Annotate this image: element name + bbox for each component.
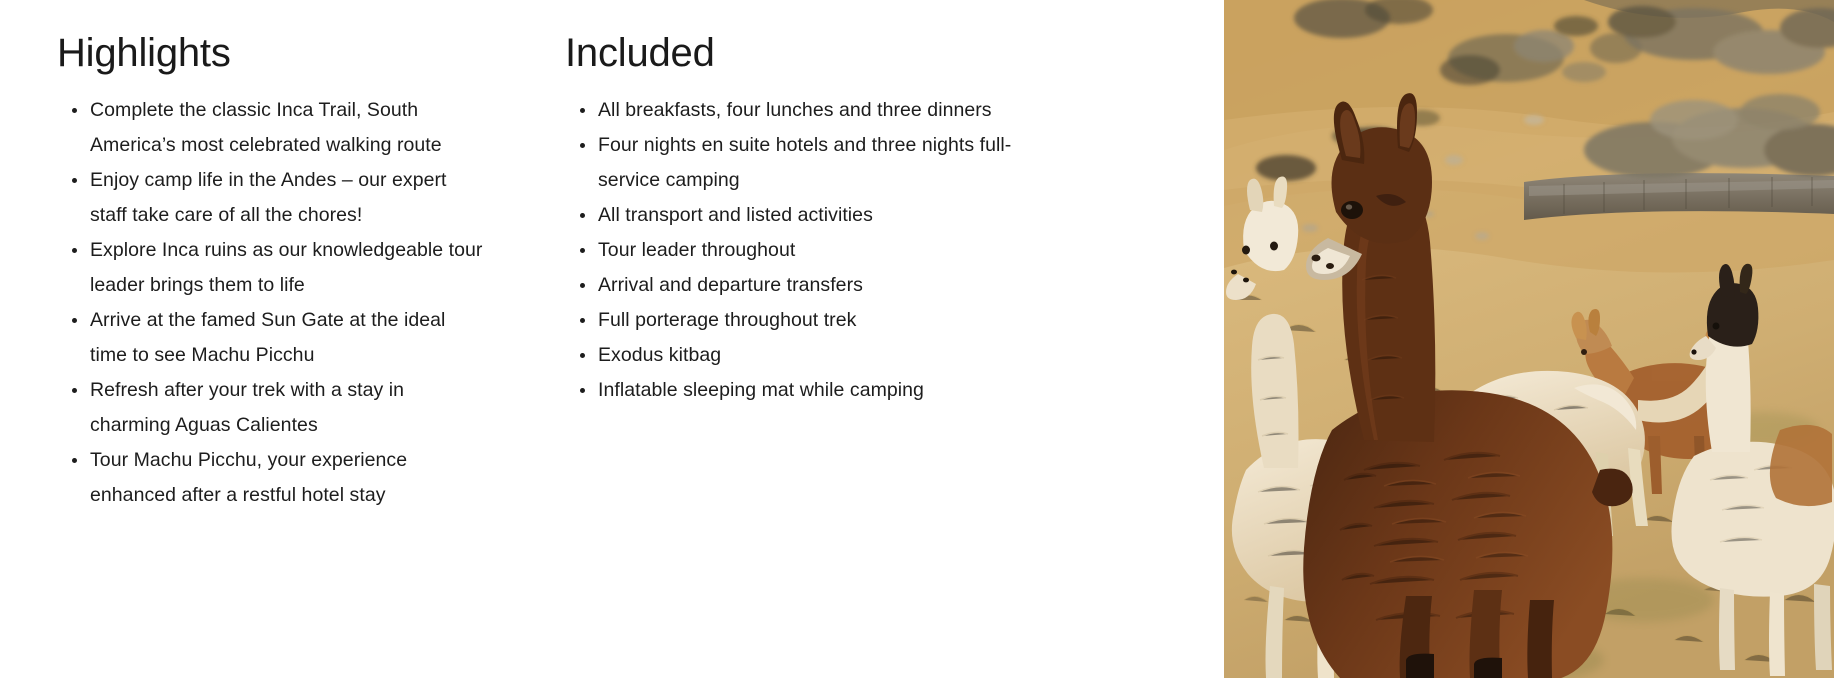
list-item-text: Complete the classic Inca Trail, South A… xyxy=(90,99,442,156)
list-item: Enjoy camp life in the Andes – our exper… xyxy=(57,163,487,233)
list-item-text: Exodus kitbag xyxy=(598,344,721,366)
list-item: Inflatable sleeping mat while camping xyxy=(565,373,1020,408)
bullet-dot-icon xyxy=(580,283,585,288)
trip-details-panel: Highlights Complete the classic Inca Tra… xyxy=(0,0,1834,678)
list-item-text: Inflatable sleeping mat while camping xyxy=(598,379,924,401)
list-item: Explore Inca ruins as our knowledgeable … xyxy=(57,233,487,303)
included-heading: Included xyxy=(565,30,1085,77)
list-item-text: Arrive at the famed Sun Gate at the idea… xyxy=(90,309,445,366)
list-item-text: All breakfasts, four lunches and three d… xyxy=(598,99,992,121)
list-item: Arrive at the famed Sun Gate at the idea… xyxy=(57,303,487,373)
list-item: Full porterage throughout trek xyxy=(565,303,1020,338)
bullet-dot-icon xyxy=(72,388,77,393)
list-item: All breakfasts, four lunches and three d… xyxy=(565,93,1020,128)
list-item-text: Tour Machu Picchu, your experience enhan… xyxy=(90,449,407,506)
list-item: Arrival and departure transfers xyxy=(565,268,1020,303)
bullet-dot-icon xyxy=(72,458,77,463)
included-column: Included All breakfasts, four lunches an… xyxy=(565,30,1085,678)
bullet-dot-icon xyxy=(580,108,585,113)
list-item: Tour leader throughout xyxy=(565,233,1020,268)
list-item: Complete the classic Inca Trail, South A… xyxy=(57,93,487,163)
bullet-dot-icon xyxy=(580,248,585,253)
bullet-dot-icon xyxy=(72,248,77,253)
list-item-text: Arrival and departure transfers xyxy=(598,274,863,296)
list-item: Tour Machu Picchu, your experience enhan… xyxy=(57,443,487,513)
highlights-heading: Highlights xyxy=(57,30,565,77)
bullet-dot-icon xyxy=(580,143,585,148)
llamas-grazing-andes-photo xyxy=(1224,0,1834,678)
bullet-dot-icon xyxy=(72,108,77,113)
bullet-dot-icon xyxy=(580,388,585,393)
text-columns: Highlights Complete the classic Inca Tra… xyxy=(0,0,1224,678)
bullet-dot-icon xyxy=(72,178,77,183)
bullet-dot-icon xyxy=(580,213,585,218)
bullet-dot-icon xyxy=(580,353,585,358)
included-list: All breakfasts, four lunches and three d… xyxy=(565,93,1085,408)
list-item: All transport and listed activities xyxy=(565,198,1020,233)
highlights-list: Complete the classic Inca Trail, South A… xyxy=(57,93,565,513)
list-item-text: Refresh after your trek with a stay in c… xyxy=(90,379,404,436)
bullet-dot-icon xyxy=(72,318,77,323)
list-item-text: Enjoy camp life in the Andes – our exper… xyxy=(90,169,447,226)
list-item-text: All transport and listed activities xyxy=(598,204,873,226)
list-item: Four nights en suite hotels and three ni… xyxy=(565,128,1020,198)
highlights-column: Highlights Complete the classic Inca Tra… xyxy=(57,30,565,678)
list-item-text: Full porterage throughout trek xyxy=(598,309,856,331)
list-item-text: Explore Inca ruins as our knowledgeable … xyxy=(90,239,482,296)
list-item-text: Four nights en suite hotels and three ni… xyxy=(598,134,1011,191)
list-item: Refresh after your trek with a stay in c… xyxy=(57,373,487,443)
list-item: Exodus kitbag xyxy=(565,338,1020,373)
list-item-text: Tour leader throughout xyxy=(598,239,795,261)
bullet-dot-icon xyxy=(580,318,585,323)
